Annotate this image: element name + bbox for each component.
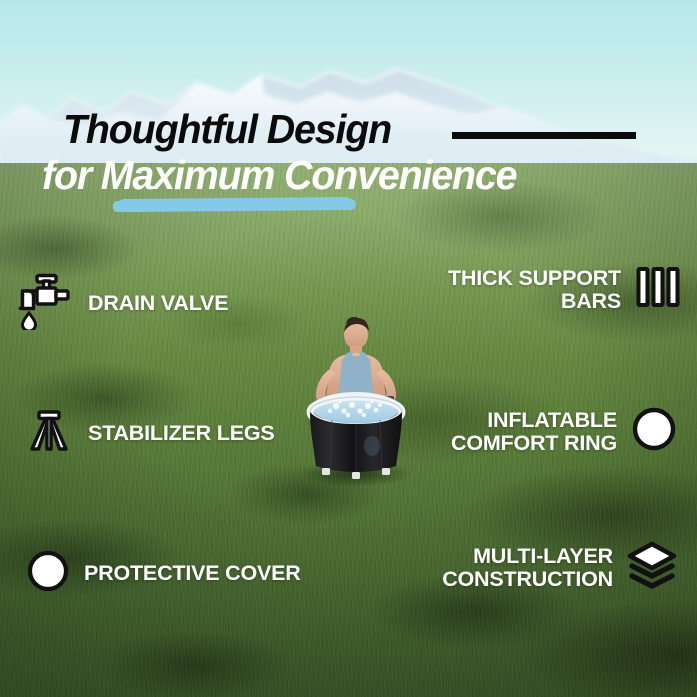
feature-label-multi-layer-construction: MULTI-LAYERCONSTRUCTION bbox=[442, 545, 613, 590]
headline-line-1: Thoughtful Design bbox=[63, 109, 391, 150]
three-vertical-bars-icon bbox=[635, 264, 681, 315]
feature-label-stabilizer-legs: STABILIZER LEGS bbox=[88, 422, 275, 445]
filled-circle-icon bbox=[26, 549, 70, 598]
feature-label-protective-cover: PROTECTIVE COVER bbox=[84, 562, 301, 585]
feature-label-drain-valve: DRAIN VALVE bbox=[88, 292, 228, 315]
ring-icon bbox=[631, 406, 677, 457]
feature-thick-support-bars: THICK SUPPORTBARS bbox=[448, 264, 681, 315]
feature-label-thick-support-bars: THICK SUPPORTBARS bbox=[448, 267, 621, 312]
headline-block: Thoughtful Design for Maximum Convenienc… bbox=[0, 0, 697, 230]
feature-label-inflatable-comfort-ring: INFLATABLECOMFORT RING bbox=[451, 409, 617, 454]
tripod-legs-icon bbox=[24, 409, 74, 458]
ice-bath-tub-photo bbox=[286, 312, 426, 486]
headline-line-2: for Maximum Convenience bbox=[42, 155, 516, 196]
headline-rule bbox=[452, 132, 636, 139]
headline-underline bbox=[113, 199, 356, 212]
faucet-drip-icon bbox=[18, 272, 74, 335]
feature-multi-layer-construction: MULTI-LAYERCONSTRUCTION bbox=[442, 541, 677, 594]
feature-stabilizer-legs: STABILIZER LEGS bbox=[24, 409, 275, 458]
feature-inflatable-comfort-ring: INFLATABLECOMFORT RING bbox=[451, 406, 677, 457]
feature-protective-cover: PROTECTIVE COVER bbox=[26, 549, 301, 598]
infographic-canvas: Thoughtful Design for Maximum Convenienc… bbox=[0, 0, 697, 697]
stacked-layers-icon bbox=[627, 541, 677, 594]
feature-drain-valve: DRAIN VALVE bbox=[18, 272, 228, 335]
